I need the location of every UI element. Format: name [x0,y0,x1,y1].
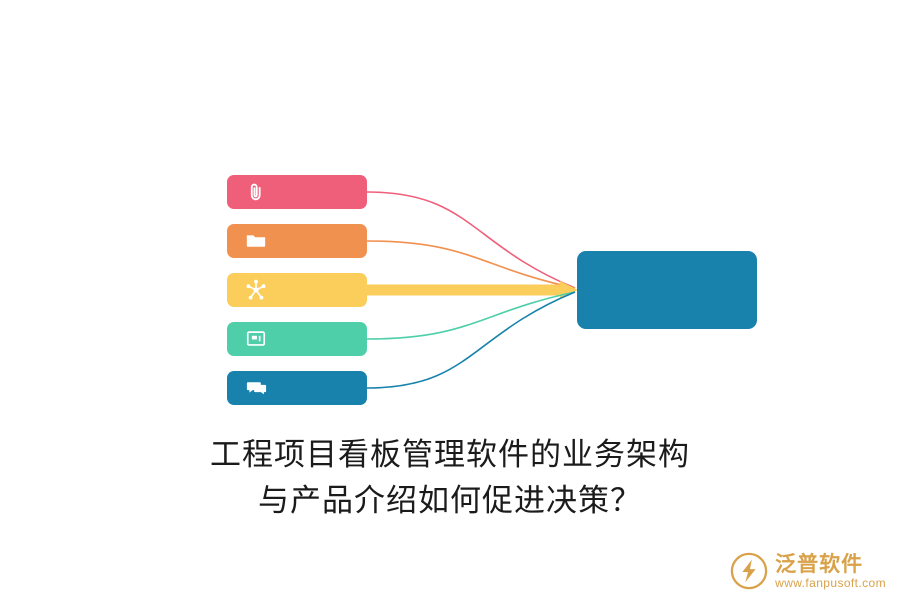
monitor-window-icon [241,324,271,354]
connector-5 [367,292,575,388]
connector-3-arrowhead [560,281,578,299]
connector-4 [367,292,575,339]
watermark: 泛普软件 www.fanpusoft.com [730,552,886,590]
branch-node-2[interactable] [227,224,367,258]
connector-lines [0,0,900,440]
title-line-2: 与产品介绍如何促进决策？ [0,478,900,524]
chat-bubbles-icon [241,373,271,403]
page-title: 工程项目看板管理软件的业务架构 与产品介绍如何促进决策？ [0,432,900,524]
folder-icon [241,226,271,256]
watermark-text: 泛普软件 www.fanpusoft.com [775,553,886,590]
title-line-1: 工程项目看板管理软件的业务架构 [0,432,900,478]
watermark-url: www.fanpusoft.com [775,576,886,590]
logo-icon [730,552,768,590]
share-network-icon [241,275,271,305]
branch-node-3[interactable] [227,273,367,307]
paperclip-icon [241,177,271,207]
branch-node-1[interactable] [227,175,367,209]
connector-2 [367,241,575,288]
hub-node[interactable] [577,251,757,329]
slide-canvas: 工程项目看板管理软件的业务架构 与产品介绍如何促进决策？ 泛普软件 www.fa… [0,0,900,600]
diagram-area [0,0,900,440]
connector-1 [367,192,575,288]
branch-node-4[interactable] [227,322,367,356]
branch-node-5[interactable] [227,371,367,405]
watermark-brand: 泛普软件 [775,553,886,576]
